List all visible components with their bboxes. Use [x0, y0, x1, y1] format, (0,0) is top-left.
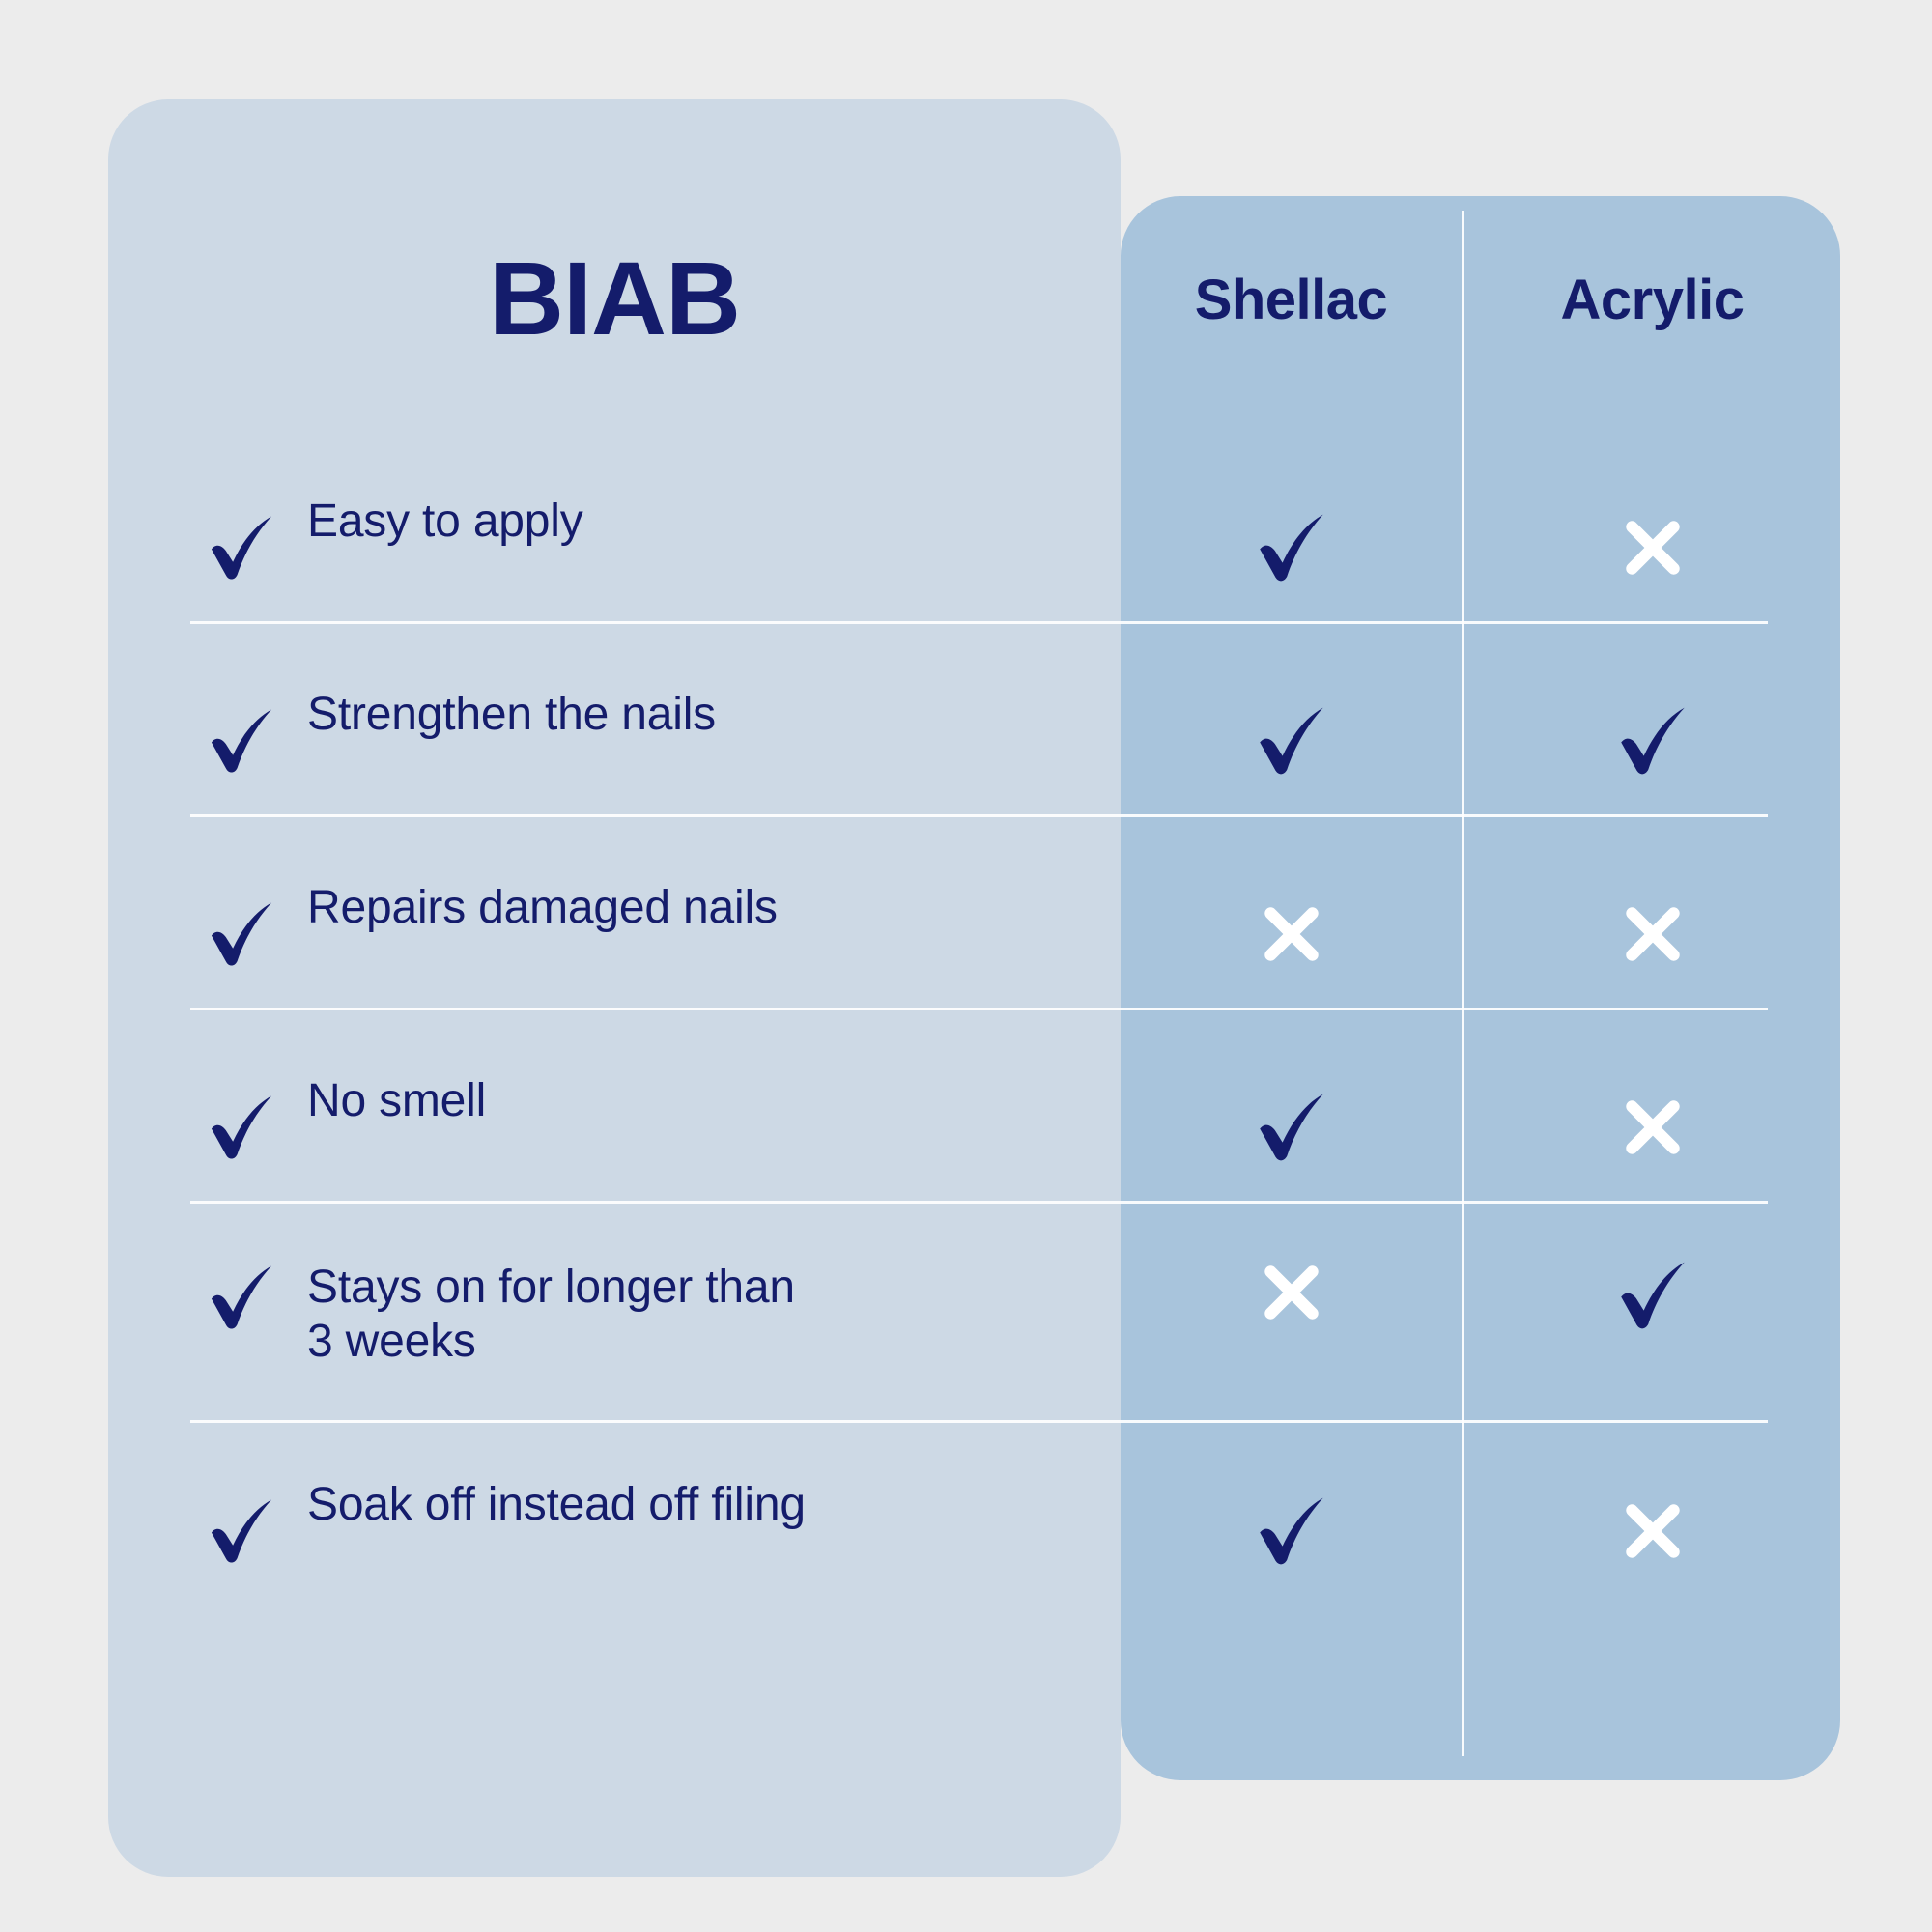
biab-check-icon [193, 1248, 290, 1445]
shellac-check-icon [1121, 1459, 1462, 1604]
feature-label: Easy to apply [307, 495, 583, 549]
page-title: BIAB [108, 246, 1121, 351]
shellac-check-icon [1121, 475, 1462, 620]
column-header-shellac: Shellac [1121, 272, 1462, 328]
feature-label: Repairs damaged nails [307, 881, 778, 935]
shellac-check-icon [1121, 668, 1462, 813]
row-divider [190, 814, 1768, 817]
biab-check-icon [193, 1055, 290, 1200]
shellac-check-icon [1121, 1055, 1462, 1200]
acrylic-check-icon [1464, 668, 1840, 813]
row-divider [190, 1008, 1768, 1010]
shellac-cross-icon [1121, 862, 1462, 1007]
biab-check-icon [193, 1459, 290, 1604]
biab-check-icon [193, 668, 290, 813]
column-header-acrylic: Acrylic [1464, 272, 1840, 328]
biab-check-icon [193, 862, 290, 1007]
shellac-cross-icon [1121, 1248, 1462, 1441]
feature-label: Strengthen the nails [307, 688, 716, 742]
feature-label: Soak off instead off filing [307, 1478, 806, 1532]
acrylic-cross-icon [1464, 1055, 1840, 1200]
acrylic-check-icon [1464, 1248, 1840, 1441]
comparison-table-stage: BIAB Shellac Acrylic Easy to applyStreng… [0, 0, 1932, 1932]
row-divider [190, 621, 1768, 624]
acrylic-cross-icon [1464, 862, 1840, 1007]
acrylic-cross-icon [1464, 475, 1840, 620]
biab-check-icon [193, 475, 290, 620]
feature-label: Stays on for longer than 3 weeks [307, 1261, 795, 1368]
acrylic-cross-icon [1464, 1459, 1840, 1604]
feature-label: No smell [307, 1074, 486, 1128]
row-divider [190, 1201, 1768, 1204]
